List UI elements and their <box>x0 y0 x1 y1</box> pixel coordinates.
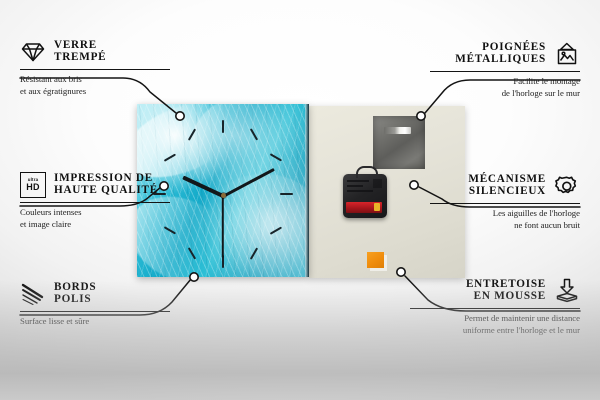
feature-desc-line1: Les aiguilles de l'horloge <box>430 207 580 219</box>
feature-divider <box>20 202 170 203</box>
feature-desc-line2: uniforme entre l'horloge et le mur <box>410 324 580 336</box>
feature-title-line2: HAUTE QUALITÉ <box>54 185 158 197</box>
infographic-canvas: VERRE TREMPÉ Résistant aux bris et aux é… <box>0 0 600 400</box>
clock-hub <box>221 193 226 198</box>
feature-desc-line1: Couleurs intenses <box>20 206 170 218</box>
feature-entretoise-en-mousse: ENTRETOISE EN MOUSSE Permet de maintenir… <box>410 278 580 336</box>
foam-spacer-arrow-icon <box>554 278 580 304</box>
metal-hanger-plate <box>373 116 425 169</box>
feature-description: Permet de maintenir une distance uniform… <box>410 312 580 336</box>
feature-divider <box>20 311 170 312</box>
mechanism-detail <box>373 179 382 188</box>
feature-title-line2: POLIS <box>54 294 96 306</box>
feature-title-line2: MÉTALLIQUES <box>455 54 546 66</box>
feature-divider <box>20 69 170 70</box>
feature-desc-line2: ne font aucun bruit <box>430 219 580 231</box>
feature-description: Couleurs intenses et image claire <box>20 206 170 230</box>
feature-title: ENTRETOISE EN MOUSSE <box>466 279 546 303</box>
polished-edge-lines-icon <box>20 281 46 307</box>
gear-icon <box>554 173 580 199</box>
feature-impression-haute-qualite: ultra HD IMPRESSION DE HAUTE QUALITÉ Cou… <box>20 172 170 230</box>
diamond-icon <box>20 39 46 65</box>
mechanism-detail <box>347 180 369 182</box>
feature-desc-line2: et image claire <box>20 218 170 230</box>
battery-terminal <box>374 203 380 211</box>
picture-frame-hanger-icon <box>554 41 580 67</box>
glass-edge <box>305 104 309 277</box>
mechanism-hanging-loop <box>356 166 378 178</box>
hanger-slot <box>384 127 411 134</box>
feature-verre-trempe: VERRE TREMPÉ Résistant aux bris et aux é… <box>20 39 170 97</box>
feature-desc-line2: de l'horloge sur le mur <box>430 87 580 99</box>
feature-divider <box>430 71 580 72</box>
mechanism-detail <box>347 190 373 192</box>
feature-divider <box>430 203 580 204</box>
feature-title: VERRE TREMPÉ <box>54 40 106 64</box>
mechanism-detail <box>347 185 363 187</box>
feature-description: Surface lisse et sûre <box>20 315 170 327</box>
feature-desc-line2: et aux égratignures <box>20 85 170 97</box>
feature-mecanisme-silencieux: MÉCANISME SILENCIEUX Les aiguilles de l'… <box>430 173 580 231</box>
feature-title-line2: SILENCIEUX <box>468 186 546 198</box>
feature-desc-line1: Surface lisse et sûre <box>20 315 170 327</box>
clock-tick <box>222 120 224 133</box>
foam-spacer <box>367 252 384 268</box>
feature-bords-polis: BORDS POLIS Surface lisse et sûre <box>20 281 170 327</box>
feature-description: Facilite le montage de l'horloge sur le … <box>430 75 580 99</box>
feature-desc-line1: Permet de maintenir une distance <box>410 312 580 324</box>
feature-title: MÉCANISME SILENCIEUX <box>468 174 546 198</box>
feature-title: POIGNÉES MÉTALLIQUES <box>455 42 546 66</box>
feature-description: Les aiguilles de l'horloge ne font aucun… <box>430 207 580 231</box>
feature-desc-line1: Résistant aux bris <box>20 73 170 85</box>
feature-desc-line1: Facilite le montage <box>430 75 580 87</box>
feature-poignees-metalliques: POIGNÉES MÉTALLIQUES Facilite le montage… <box>430 41 580 99</box>
clock-second-hand <box>222 196 224 258</box>
battery <box>346 202 382 213</box>
feature-title: IMPRESSION DE HAUTE QUALITÉ <box>54 173 158 197</box>
quartz-mechanism-box <box>343 174 387 218</box>
ultra-hd-big-text: HD <box>26 183 39 192</box>
feature-description: Résistant aux bris et aux égratignures <box>20 73 170 97</box>
feature-title: BORDS POLIS <box>54 282 96 306</box>
feature-title-line2: EN MOUSSE <box>466 291 546 303</box>
ultra-hd-icon: ultra HD <box>20 172 46 198</box>
feature-divider <box>410 308 580 309</box>
feature-title-line2: TREMPÉ <box>54 52 106 64</box>
